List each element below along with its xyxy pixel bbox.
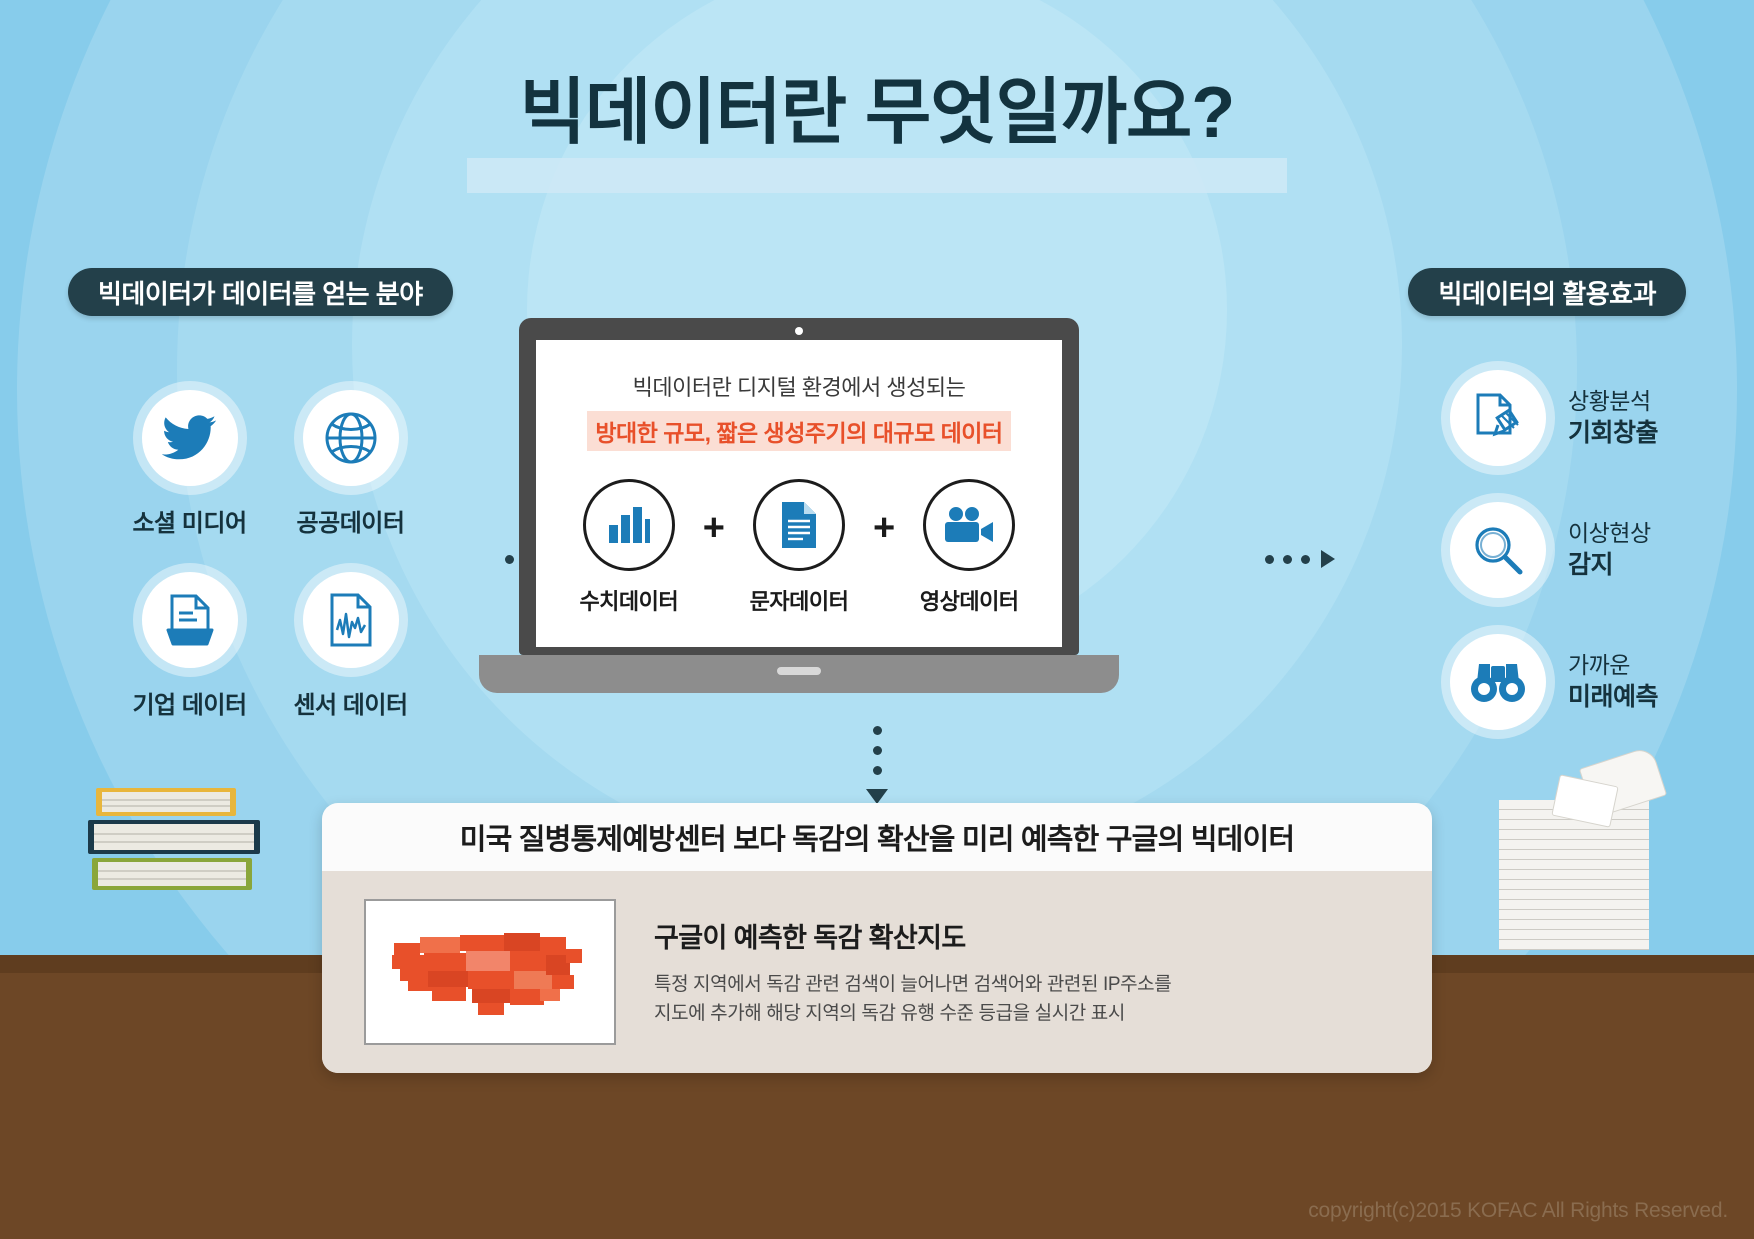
laptop-lid: 빅데이터란 디지털 환경에서 생성되는 방대한 규모, 짧은 생성주기의 대규모… bbox=[519, 318, 1079, 655]
book-2 bbox=[88, 820, 260, 854]
effect-line-2: 기회창출 bbox=[1568, 417, 1658, 449]
video-camera-icon bbox=[923, 479, 1015, 571]
laptop-base bbox=[479, 655, 1119, 693]
case-study-paragraph-line-1: 특정 지역에서 독감 관련 검색이 늘어나면 검색어와 관련된 IP주소를 bbox=[654, 970, 1171, 999]
document-pencil-icon bbox=[1450, 370, 1546, 466]
title-highlight-bar bbox=[467, 158, 1287, 193]
effect-line-1: 상황분석 bbox=[1568, 388, 1651, 414]
us-flu-heatmap bbox=[364, 899, 616, 1045]
effect-item-future-prediction: 가까운 미래예측 bbox=[1450, 634, 1658, 730]
laptop-illustration: 빅데이터란 디지털 환경에서 생성되는 방대한 규모, 짧은 생성주기의 대규모… bbox=[519, 318, 1079, 693]
infographic-canvas: 빅데이터란 무엇일까요? 빅데이터가 데이터를 얻는 분야 빅데이터의 활용효과… bbox=[0, 0, 1754, 1239]
effect-line-2: 미래예측 bbox=[1568, 681, 1658, 713]
effect-item-anomaly-detection: 이상현상 감지 bbox=[1450, 502, 1658, 598]
data-type-row: 수치데이터 + bbox=[536, 479, 1062, 616]
text-document-icon bbox=[753, 479, 845, 571]
case-study-title: 미국 질병통제예방센터 보다 독감의 확산을 미리 예측한 구글의 빅데이터 bbox=[322, 803, 1432, 871]
data-type-label: 영상데이터 bbox=[920, 584, 1019, 616]
effect-item-situation-analysis: 상황분석 기회창출 bbox=[1450, 370, 1658, 466]
effect-line-2: 감지 bbox=[1568, 549, 1651, 581]
source-label: 기업 데이터 bbox=[132, 685, 246, 720]
bar-chart-icon bbox=[583, 479, 675, 571]
source-item-sensor-data: 센서 데이터 bbox=[281, 572, 420, 720]
twitter-bird-icon bbox=[142, 390, 238, 486]
flow-arrow-right bbox=[1265, 550, 1335, 568]
effect-line-1: 이상현상 bbox=[1568, 520, 1651, 546]
flow-arrow-down bbox=[866, 726, 888, 804]
globe-icon bbox=[303, 390, 399, 486]
source-label: 소셜 미디어 bbox=[132, 503, 246, 538]
section-badge-sources: 빅데이터가 데이터를 얻는 분야 bbox=[68, 268, 453, 316]
source-item-social-media: 소셜 미디어 bbox=[120, 390, 259, 538]
case-study-body: 구글이 예측한 독감 확산지도 특정 지역에서 독감 관련 검색이 늘어나면 검… bbox=[322, 871, 1432, 1073]
document-tray-icon bbox=[142, 572, 238, 668]
data-type-label: 문자데이터 bbox=[750, 584, 849, 616]
effect-text: 상황분석 기회창출 bbox=[1568, 387, 1658, 448]
webcam-icon bbox=[795, 327, 803, 335]
binoculars-icon bbox=[1450, 634, 1546, 730]
data-type-text: 문자데이터 bbox=[737, 479, 861, 616]
data-source-grid: 소셜 미디어 공공데이터 bbox=[120, 390, 420, 720]
case-study-paragraph-line-2: 지도에 추가해 해당 지역의 독감 유행 수준 등급을 실시간 표시 bbox=[654, 999, 1171, 1028]
data-type-video: 영상데이터 bbox=[907, 479, 1031, 616]
plus-sign-1: + bbox=[703, 507, 725, 550]
definition-line-2: 방대한 규모, 짧은 생성주기의 대규모 데이터 bbox=[587, 411, 1010, 451]
case-study-text: 구글이 예측한 독감 확산지도 특정 지역에서 독감 관련 검색이 늘어나면 검… bbox=[654, 916, 1171, 1029]
plus-sign-2: + bbox=[873, 507, 895, 550]
case-study-heading: 구글이 예측한 독감 확산지도 bbox=[654, 916, 1171, 955]
section-badge-effects: 빅데이터의 활용효과 bbox=[1408, 268, 1686, 316]
page-title: 빅데이터란 무엇일까요? bbox=[0, 72, 1754, 155]
laptop-screen: 빅데이터란 디지털 환경에서 생성되는 방대한 규모, 짧은 생성주기의 대규모… bbox=[536, 340, 1062, 647]
source-item-enterprise-data: 기업 데이터 bbox=[120, 572, 259, 720]
book-3 bbox=[92, 858, 252, 890]
definition-line-2-wrap: 방대한 규모, 짧은 생성주기의 대규모 데이터 bbox=[536, 411, 1062, 451]
case-study-paragraph: 특정 지역에서 독감 관련 검색이 늘어나면 검색어와 관련된 IP주소를 지도… bbox=[654, 970, 1171, 1029]
page-title-block: 빅데이터란 무엇일까요? bbox=[0, 72, 1754, 155]
effect-line-1: 가까운 bbox=[1568, 652, 1630, 678]
data-type-numeric: 수치데이터 bbox=[567, 479, 691, 616]
source-label: 센서 데이터 bbox=[293, 685, 407, 720]
magnifier-icon bbox=[1450, 502, 1546, 598]
paper-stack-illustration bbox=[1499, 800, 1649, 950]
case-study-card: 미국 질병통제예방센터 보다 독감의 확산을 미리 예측한 구글의 빅데이터 bbox=[322, 803, 1432, 1073]
sensor-chart-icon bbox=[303, 572, 399, 668]
effect-text: 가까운 미래예측 bbox=[1568, 651, 1658, 712]
source-item-public-data: 공공데이터 bbox=[281, 390, 420, 538]
effect-text: 이상현상 감지 bbox=[1568, 519, 1651, 580]
data-type-label: 수치데이터 bbox=[579, 584, 678, 616]
book-1 bbox=[96, 788, 236, 816]
effects-list: 상황분석 기회창출 이상현상 감지 bbox=[1450, 370, 1658, 730]
definition-line-1: 빅데이터란 디지털 환경에서 생성되는 bbox=[536, 370, 1062, 402]
copyright-text: copyright(c)2015 KOFAC All Rights Reserv… bbox=[1308, 1199, 1728, 1223]
book-stack-illustration bbox=[88, 788, 263, 894]
source-label: 공공데이터 bbox=[297, 503, 405, 538]
